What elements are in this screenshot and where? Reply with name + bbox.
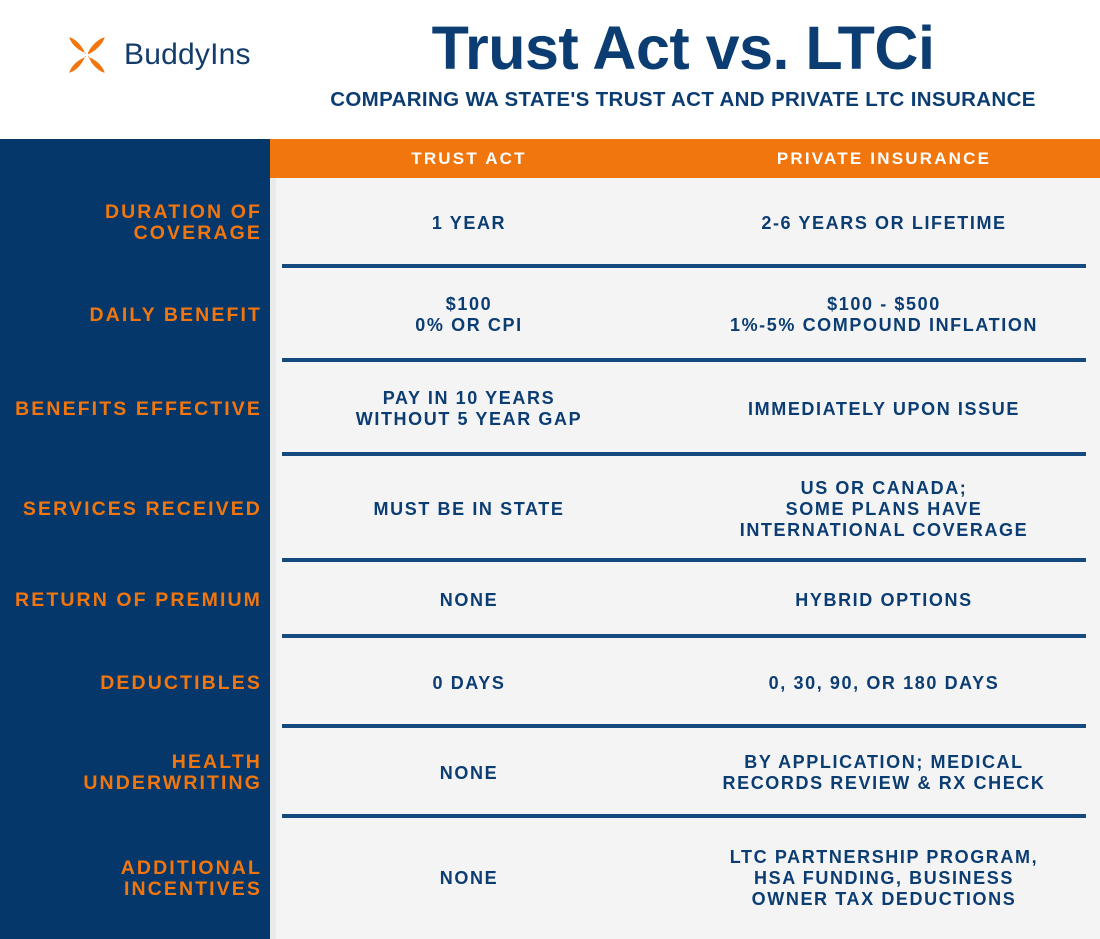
cell-private-insurance: HYBRID OPTIONS	[668, 590, 1100, 611]
column-header-private-insurance: PRIVATE INSURANCE	[668, 149, 1100, 169]
row-values: MUST BE IN STATEUS OR CANADA;SOME PLANS …	[270, 456, 1100, 562]
cell-private-insurance: 0, 30, 90, OR 180 DAYS	[668, 673, 1100, 694]
cell-private-insurance: LTC PARTNERSHIP PROGRAM,HSA FUNDING, BUS…	[668, 847, 1100, 910]
row-label: DAILY BENEFIT	[0, 305, 270, 326]
cell-private-insurance: 2-6 YEARS OR LIFETIME	[668, 213, 1100, 234]
table-body: DURATION OF COVERAGE1 YEAR2-6 YEARS OR L…	[0, 178, 1100, 939]
row-values: PAY IN 10 YEARSWITHOUT 5 YEAR GAPIMMEDIA…	[270, 362, 1100, 456]
row-divider	[282, 634, 1086, 638]
cell-trust-act: $1000% OR CPI	[270, 294, 668, 336]
row-values: NONELTC PARTNERSHIP PROGRAM,HSA FUNDING,…	[270, 818, 1100, 939]
row-label: ADDITIONAL INCENTIVES	[0, 858, 270, 900]
row-values: 0 DAYS0, 30, 90, OR 180 DAYS	[270, 638, 1100, 728]
row-values: 1 YEAR2-6 YEARS OR LIFETIME	[270, 178, 1100, 268]
cell-trust-act: NONE	[270, 868, 668, 889]
comparison-table: TRUST ACT PRIVATE INSURANCE DURATION OF …	[0, 139, 1100, 900]
row-divider	[282, 358, 1086, 362]
brand-name: BuddyIns	[124, 38, 251, 72]
infographic-canvas: BuddyIns Trust Act vs. LTCi COMPARING WA…	[0, 0, 1100, 900]
row-divider	[282, 452, 1086, 456]
row-label: BENEFITS EFFECTIVE	[0, 399, 270, 420]
row-divider	[282, 264, 1086, 268]
cell-trust-act: 1 YEAR	[270, 213, 668, 234]
cell-trust-act: PAY IN 10 YEARSWITHOUT 5 YEAR GAP	[270, 388, 668, 430]
table-row: DAILY BENEFIT$1000% OR CPI$100 - $5001%-…	[0, 268, 1100, 362]
page-subtitle: COMPARING WA STATE'S TRUST ACT AND PRIVA…	[280, 88, 1086, 112]
table-row: DEDUCTIBLES0 DAYS0, 30, 90, OR 180 DAYS	[0, 638, 1100, 728]
row-label: DURATION OF COVERAGE	[0, 202, 270, 244]
row-divider	[282, 814, 1086, 818]
page-title: Trust Act vs. LTCi	[280, 14, 1086, 82]
cell-trust-act: NONE	[270, 590, 668, 611]
row-values: NONEHYBRID OPTIONS	[270, 562, 1100, 638]
brand-lockup: BuddyIns	[60, 28, 251, 82]
row-label: HEALTH UNDERWRITING	[0, 752, 270, 794]
cell-private-insurance: BY APPLICATION; MEDICALRECORDS REVIEW & …	[668, 752, 1100, 794]
row-values: $1000% OR CPI$100 - $5001%-5% COMPOUND I…	[270, 268, 1100, 362]
table-row: SERVICES RECEIVEDMUST BE IN STATEUS OR C…	[0, 456, 1100, 562]
row-label: RETURN OF PREMIUM	[0, 590, 270, 611]
table-row: RETURN OF PREMIUMNONEHYBRID OPTIONS	[0, 562, 1100, 638]
cell-private-insurance: IMMEDIATELY UPON ISSUE	[668, 399, 1100, 420]
row-label: SERVICES RECEIVED	[0, 499, 270, 520]
column-header-row: TRUST ACT PRIVATE INSURANCE	[270, 139, 1100, 178]
row-divider	[282, 558, 1086, 562]
cell-trust-act: 0 DAYS	[270, 673, 668, 694]
column-header-trust-act: TRUST ACT	[270, 149, 668, 169]
row-label: DEDUCTIBLES	[0, 673, 270, 694]
cell-trust-act: NONE	[270, 763, 668, 784]
table-row: HEALTH UNDERWRITINGNONEBY APPLICATION; M…	[0, 728, 1100, 818]
row-values: NONEBY APPLICATION; MEDICALRECORDS REVIE…	[270, 728, 1100, 818]
title-block: Trust Act vs. LTCi COMPARING WA STATE'S …	[280, 14, 1086, 112]
row-divider	[282, 724, 1086, 728]
table-row: BENEFITS EFFECTIVEPAY IN 10 YEARSWITHOUT…	[0, 362, 1100, 456]
table-row: DURATION OF COVERAGE1 YEAR2-6 YEARS OR L…	[0, 178, 1100, 268]
four-petal-flower-icon	[60, 28, 114, 82]
cell-private-insurance: $100 - $5001%-5% COMPOUND INFLATION	[668, 294, 1100, 336]
table-row: ADDITIONAL INCENTIVESNONELTC PARTNERSHIP…	[0, 818, 1100, 939]
cell-trust-act: MUST BE IN STATE	[270, 499, 668, 520]
header-band: BuddyIns Trust Act vs. LTCi COMPARING WA…	[0, 0, 1100, 139]
cell-private-insurance: US OR CANADA;SOME PLANS HAVEINTERNATIONA…	[668, 478, 1100, 541]
